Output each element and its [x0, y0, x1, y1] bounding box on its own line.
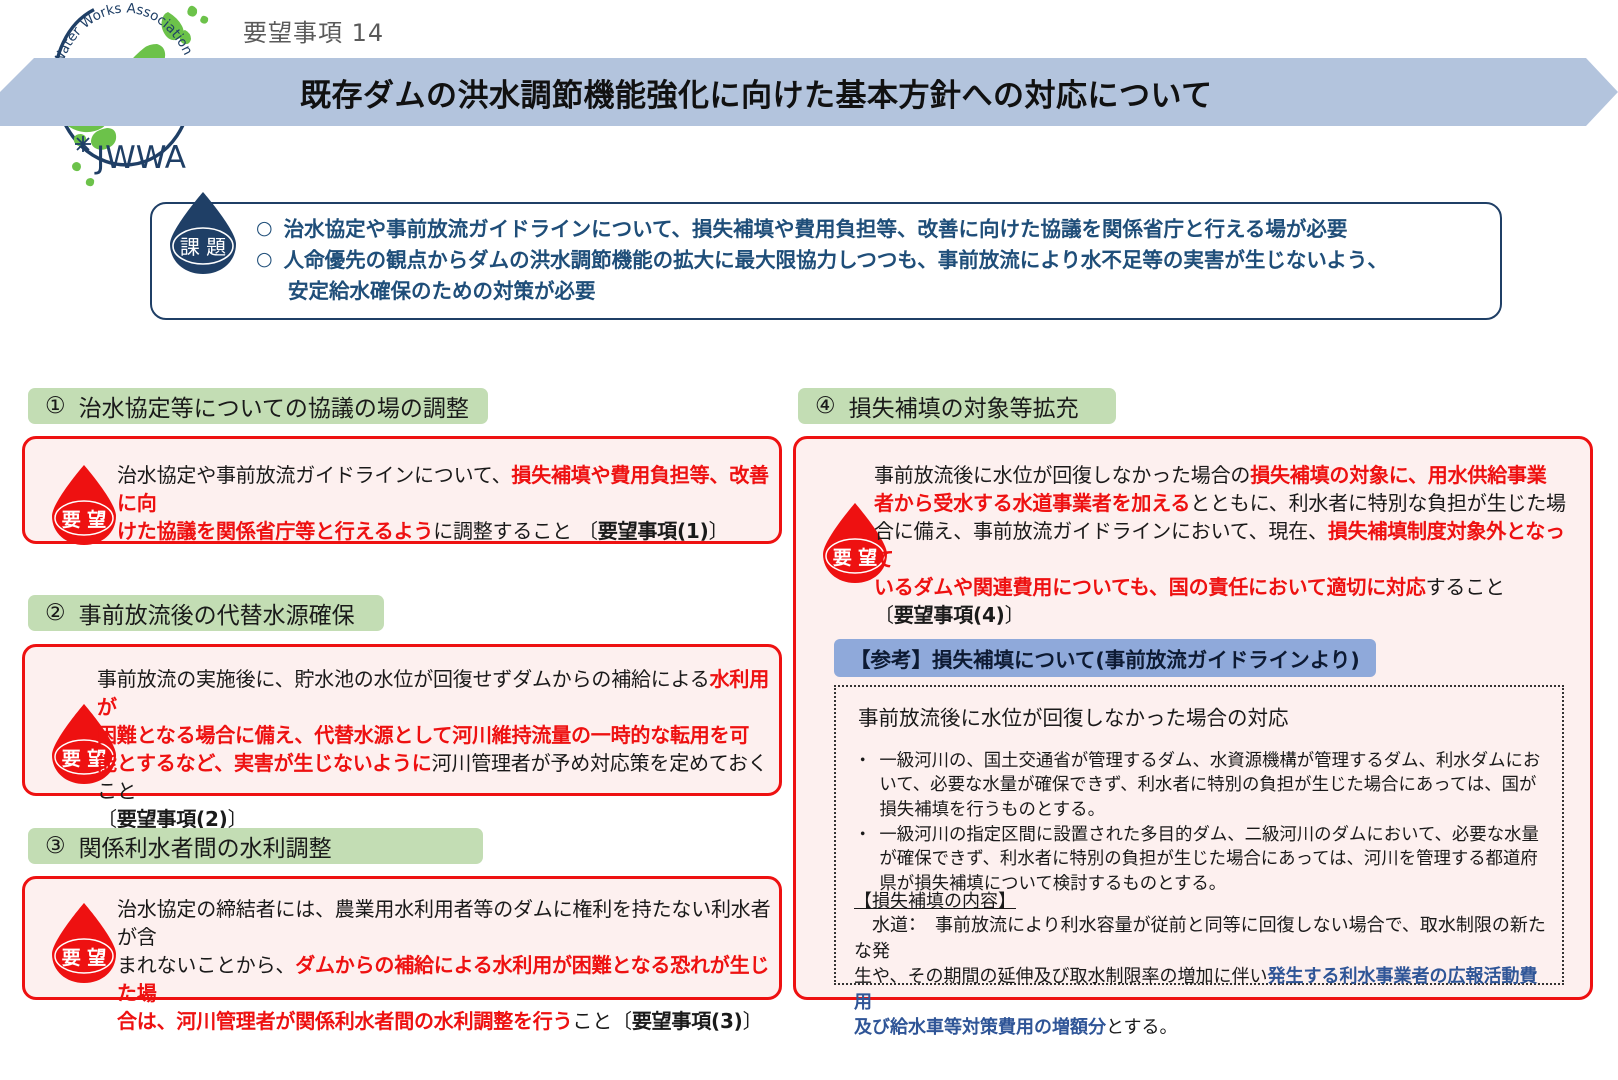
request-text-1: 治水協定や事前放流ガイドラインについて、損失補填や費用負担等、改善に向けた協議を… [117, 461, 775, 545]
text-line: 及び給水車等対策費用の増額分とする。 [854, 1015, 1548, 1041]
issue-item-text: 治水協定や事前放流ガイドラインについて、損失補填や費用負担等、改善に向けた協議を… [284, 215, 1348, 244]
section-title: 損失補填の対象等拡充 [849, 389, 1079, 423]
text-line: 治水協定や事前放流ガイドラインについて、損失補填や費用負担等、改善に向 [117, 461, 775, 517]
request-badge-text: 要 望 [62, 509, 107, 531]
request-text-2: 事前放流の実施後に、貯水池の水位が回復せずダムからの補給による水利用が困難となる… [97, 665, 777, 833]
text-line: いるダムや関連費用についても、国の責任において適切に対応すること [874, 573, 1580, 601]
bullet-circle-icon: ○ [256, 246, 273, 274]
text-run: 損失補填の対象に、用水供給事業 [1250, 463, 1546, 487]
text-run: 者から受水する水道事業者を加える [874, 491, 1190, 515]
reference-content-text: 水道： 事前放流により利水容量が従前と同等に回復しない場合で、取水制限の新たな発… [854, 913, 1548, 1041]
section-number: ① [45, 393, 66, 419]
text-run: 及び給水車等対策費用の増額分 [854, 1017, 1106, 1038]
text-line: 〔要望事項(4)〕 [874, 601, 1580, 629]
section-heading-3: ③ 関係利水者間の水利調整 [28, 828, 483, 864]
text-run: 水道： 事前放流により利水容量が従前と同等に回復しない場合で、取水制限の新たな発 [854, 915, 1546, 962]
text-run: 〕 [1005, 603, 1025, 627]
request-droplet-badge: 要 望 [47, 901, 121, 985]
text-run: 困難となる場合に備え、代替水源として河川維持流量の一時的な転用を可 [97, 723, 749, 747]
text-line: 生や、その期間の延伸及び取水制限率の増加に伴い発生する利水事業者の広報活動費用 [854, 964, 1548, 1015]
section-title: 関係利水者間の水利調整 [79, 829, 332, 863]
text-line: 事前放流の実施後に、貯水池の水位が回復せずダムからの補給による水利用が [97, 665, 777, 721]
request-text-3: 治水協定の締結者には、農業用水利用者等のダムに権利を持たない利水者が含まれないこ… [117, 895, 777, 1035]
text-line: 者から受水する水道事業者を加えるとともに、利水者に特別な負担が生じた場 [874, 489, 1580, 517]
star-marker-icon [75, 136, 91, 152]
reference-content-title: 【損失補填の内容】 [854, 887, 1016, 913]
text-run: 事前放流の実施後に、貯水池の水位が回復せずダムからの補給による [97, 667, 710, 691]
text-run: 〕 [709, 519, 729, 543]
issue-item-text-cont: 安定給水確保のための対策が必要 [288, 277, 1488, 306]
section-heading-4: ④ 損失補填の対象等拡充 [798, 388, 1116, 424]
request-box-3: 要 望 治水協定の締結者には、農業用水利用者等のダムに権利を持たない利水者が含ま… [22, 876, 782, 1000]
reference-bullet-list: ・ 一級河川の、国土交通省が管理するダム、水資源機構が管理するダム、利水ダムにお… [854, 749, 1548, 897]
reference-bullet-text: 一級河川の指定区間に設置された多目的ダム、二級河川のダムにおいて、必要な水量が確… [879, 823, 1548, 896]
text-line: 能とするなど、実害が生じないように河川管理者が予め対応策を定めておくこと [97, 749, 777, 805]
issue-box: 課 題 ○ 治水協定や事前放流ガイドラインについて、損失補填や費用負担等、改善に… [150, 202, 1502, 320]
text-run: 〕 [743, 1009, 763, 1033]
text-run: 合は、河川管理者が関係利水者間の水利調整を行う [117, 1009, 572, 1033]
text-run: 要望事項(4) [894, 603, 1005, 627]
bullet-dot-icon: ・ [854, 823, 871, 847]
text-run: 合に備え、事前放流ガイドラインにおいて、現在、 [874, 519, 1328, 543]
text-run: 要望事項(3) [632, 1009, 743, 1033]
request-badge-text: 要 望 [833, 547, 878, 569]
request-box-1: 要 望 治水協定や事前放流ガイドラインについて、損失補填や費用負担等、改善に向け… [22, 436, 782, 544]
text-line: まれないことから、ダムからの補給による水利用が困難となる恐れが生じた場 [117, 951, 777, 1007]
text-line: けた協議を関係省庁等と行えるように調整すること 〔要望事項(1)〕 [117, 517, 775, 545]
issue-list: ○ 治水協定や事前放流ガイドラインについて、損失補填や費用負担等、改善に向けた協… [256, 215, 1488, 306]
text-line: 事前放流後に水位が回復しなかった場合の損失補填の対象に、用水供給事業 [874, 461, 1580, 489]
text-run: 要望事項(1) [598, 519, 709, 543]
issue-item-text: 人命優先の観点からダムの洪水調節機能の拡大に最大限協力しつつも、事前放流により水… [284, 246, 1388, 275]
section-number: ③ [45, 833, 66, 859]
section-title: 治水協定等についての協議の場の調整 [79, 389, 469, 423]
request-text-4: 事前放流後に水位が回復しなかった場合の損失補填の対象に、用水供給事業者から受水す… [874, 461, 1580, 629]
text-run: とする。 [1106, 1017, 1177, 1038]
request-droplet-badge: 要 望 [47, 463, 121, 547]
section-number: ④ [815, 393, 836, 419]
section-heading-1: ① 治水協定等についての協議の場の調整 [28, 388, 488, 424]
text-line: 合に備え、事前放流ガイドラインにおいて、現在、損失補填制度対象外となって [874, 517, 1580, 573]
reference-bullet-item: ・ 一級河川の指定区間に設置された多目的ダム、二級河川のダムにおいて、必要な水量… [854, 823, 1548, 896]
section-heading-2: ② 事前放流後の代替水源確保 [28, 595, 384, 631]
request-item-label: 要望事項 14 [243, 13, 384, 48]
text-run: 事前放流後に水位が回復しなかった場合の [874, 463, 1250, 487]
section-number: ② [45, 600, 66, 626]
text-run: 治水協定の締結者には、農業用水利用者等のダムに権利を持たない利水者が含 [117, 897, 770, 949]
text-line: 困難となる場合に備え、代替水源として河川維持流量の一時的な転用を可 [97, 721, 777, 749]
text-run: に調整すること 〔 [433, 519, 598, 543]
text-run: けた協議を関係省庁等と行えるよう [117, 519, 433, 543]
reference-bullet-item: ・ 一級河川の、国土交通省が管理するダム、水資源機構が管理するダム、利水ダムにお… [854, 749, 1548, 822]
text-run: 生や、その期間の延伸及び取水制限率の増加に伴い [854, 966, 1267, 987]
droplet-icon: 要 望 [47, 901, 121, 985]
reference-title: 事前放流後に水位が回復しなかった場合の対応 [858, 701, 1289, 731]
bullet-circle-icon: ○ [256, 215, 273, 243]
issue-item: ○ 人命優先の観点からダムの洪水調節機能の拡大に最大限協力しつつも、事前放流によ… [256, 246, 1488, 275]
issue-droplet-badge: 課 題 [164, 190, 242, 276]
section-title: 事前放流後の代替水源確保 [79, 596, 355, 630]
page-title: 既存ダムの洪水調節機能強化に向けた基本方針への対応について [300, 58, 1480, 126]
request-box-2: 要 望 事前放流の実施後に、貯水池の水位が回復せずダムからの補給による水利用が困… [22, 644, 782, 796]
text-run: こと〔 [572, 1009, 631, 1033]
reference-bullet-text: 一級河川の、国土交通省が管理するダム、水資源機構が管理するダム、利水ダムにおいて… [879, 749, 1548, 822]
reference-label: 【参考】損失補填について(事前放流ガイドラインより) [834, 639, 1376, 677]
text-run: すること [1426, 575, 1505, 599]
text-line: 治水協定の締結者には、農業用水利用者等のダムに権利を持たない利水者が含 [117, 895, 777, 951]
text-run: 治水協定や事前放流ガイドラインについて、 [117, 463, 511, 487]
request-badge-text: 要 望 [62, 947, 107, 969]
reference-box: 事前放流後に水位が回復しなかった場合の対応 ・ 一級河川の、国土交通省が管理する… [834, 685, 1564, 985]
issue-item: ○ 治水協定や事前放流ガイドラインについて、損失補填や費用負担等、改善に向けた協… [256, 215, 1488, 244]
text-run: いるダムや関連費用についても、国の責任において適切に対応 [874, 575, 1426, 599]
text-run: 〔 [874, 603, 894, 627]
issue-badge-text: 課 題 [180, 235, 226, 259]
droplet-icon: 要 望 [47, 463, 121, 547]
droplet-icon: 課 題 [164, 190, 242, 276]
text-run: まれないことから、 [117, 953, 295, 977]
logo-acronym: JWWA [94, 140, 186, 176]
text-run: とともに、利水者に特別な負担が生じた場 [1190, 491, 1566, 515]
bullet-dot-icon: ・ [854, 749, 871, 773]
text-line: 合は、河川管理者が関係利水者間の水利調整を行うこと〔要望事項(3)〕 [117, 1007, 777, 1035]
text-line: 水道： 事前放流により利水容量が従前と同等に回復しない場合で、取水制限の新たな発 [854, 913, 1548, 964]
request-box-4: 要 望 事前放流後に水位が回復しなかった場合の損失補填の対象に、用水供給事業者か… [793, 436, 1593, 1000]
text-run: 能とするなど、実害が生じないように [97, 751, 432, 775]
